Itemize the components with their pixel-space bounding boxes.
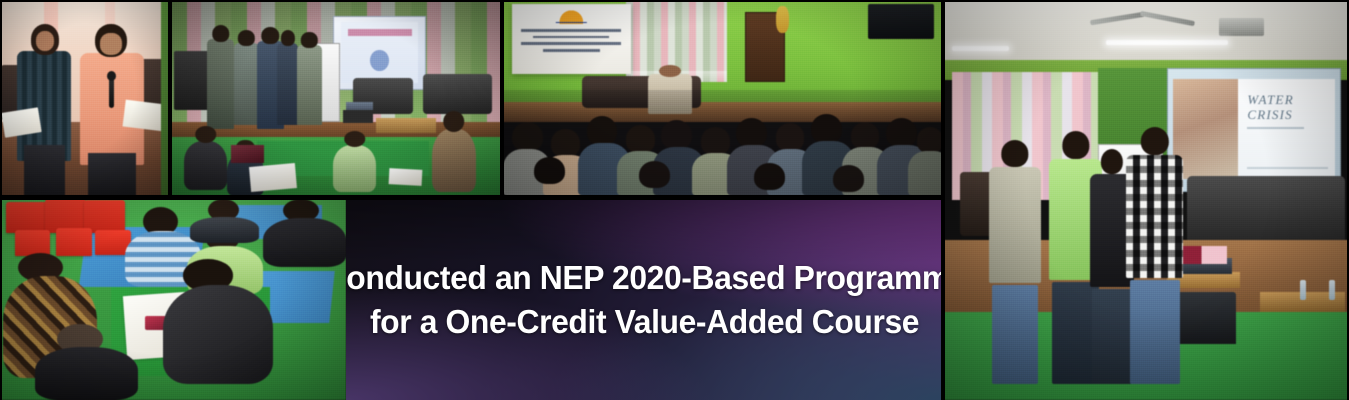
- headline-line-2: for a One-Credit Value-Added Course: [370, 300, 919, 343]
- slide-title-line-1: WATER: [1247, 93, 1328, 108]
- panel-seam-horizontal: [0, 195, 944, 200]
- photo-workshop-room: [171, 0, 502, 196]
- photo-auditorium-audience: [503, 0, 943, 196]
- frame-edge-left: [0, 0, 2, 400]
- photo-collage-banner: WATER CRISIS: [0, 0, 1349, 400]
- headline-line-1: Conducted an NEP 2020-Based Programme: [346, 256, 944, 299]
- headline-banner: Conducted an NEP 2020-Based Programme fo…: [346, 199, 944, 400]
- event-wall-banner: [512, 4, 631, 75]
- panel-seam-vertical-2: [500, 0, 504, 199]
- photo-floor-group-activity: [0, 199, 346, 400]
- projector-icon: [1219, 18, 1264, 36]
- photo-water-crisis-presentation: WATER CRISIS: [944, 0, 1349, 400]
- photo-students-with-microphone: [0, 0, 170, 196]
- panel-seam-vertical-3: [941, 0, 945, 400]
- headline-text-block: Conducted an NEP 2020-Based Programme fo…: [346, 199, 944, 400]
- panel-seam-vertical-1: [168, 0, 172, 199]
- ceiling-fan-icon: [1090, 8, 1195, 28]
- frame-edge-top: [0, 0, 1349, 2]
- water-crisis-poster: [1183, 246, 1228, 264]
- slide-title-line-2: CRISIS: [1247, 108, 1328, 123]
- projection-screen: WATER CRISIS: [1167, 68, 1341, 192]
- art-of-living-logo-icon: [551, 9, 591, 25]
